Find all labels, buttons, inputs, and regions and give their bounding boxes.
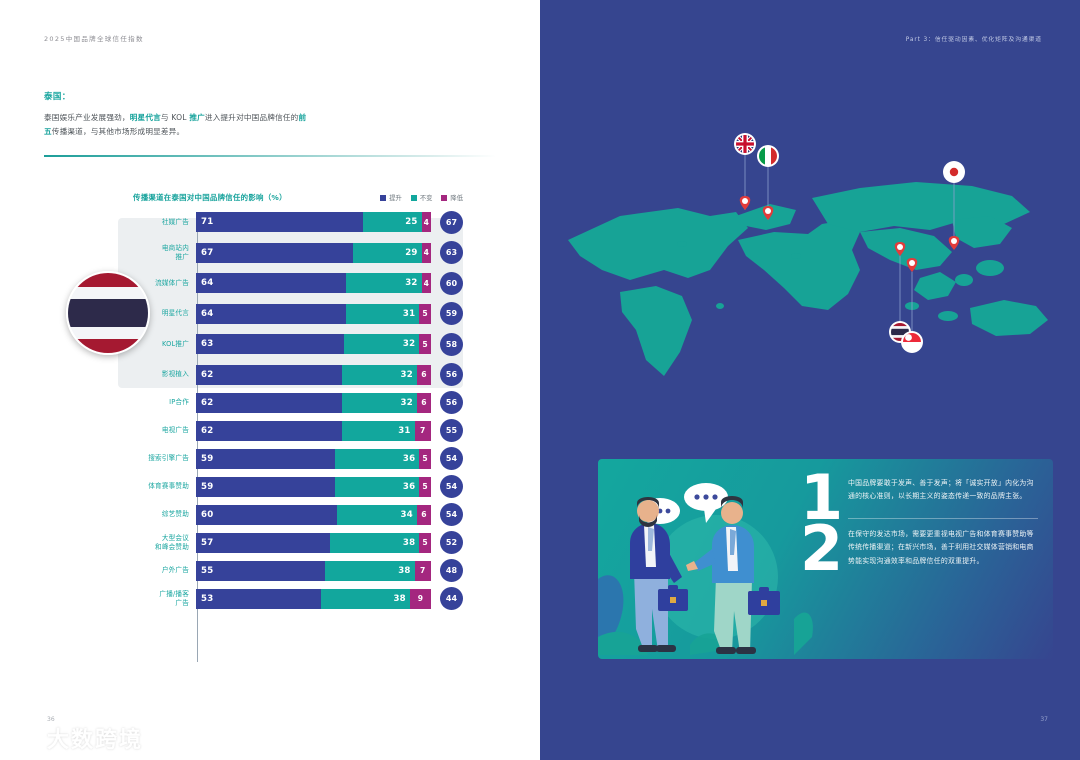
bar-segment-up: 53 [196,589,321,609]
bar-segment-up: 64 [196,273,346,293]
legend-label-up: 提升 [389,193,402,202]
right-page-header: Part 3：信任驱动因素、优化矩阵及沟通渠道 [906,34,1042,43]
insights-list: 1 中国品牌要敢于发声、善于发声；将「诚实开放」内化为沟通的核心准则，以长期主义… [848,477,1038,578]
bar-segment-up: 62 [196,421,342,441]
bar-segment-up: 59 [196,449,335,469]
bar-segment-same: 36 [335,477,420,497]
table-row: 影视植入6232656 [133,365,463,385]
stacked-bar: 53389 [196,589,431,609]
bar-segment-same: 32 [342,365,417,385]
legend-item-same: 不变 [411,193,433,202]
legend-item-down: 降低 [441,193,463,202]
table-row: IP合作6232656 [133,393,463,413]
magazine-spread: 2025中国品牌全球信任指数 泰国： 泰国娱乐产业发展强劲，明星代言与 KOL … [0,0,1080,760]
bar-segment-down: 6 [417,393,431,413]
legend-swatch-down [441,195,447,201]
table-row: 综艺赞助6034654 [133,505,463,525]
intro-line2-a: 品牌信任的 [259,113,298,122]
stacked-bar: 62326 [196,365,431,385]
insights-divider [848,518,1038,519]
table-row: 明星代言6431559 [133,304,463,324]
bar-segment-same: 34 [337,505,417,525]
bar-segment-down: 9 [410,589,431,609]
insight-text-2: 在保守的发达市场，需要更重视电视广告和体育赛事赞助等传统传播渠道；在新兴市场，善… [848,528,1038,568]
insight-number-2: 2 [800,518,841,580]
watermark-text: 大数跨境 [47,722,143,754]
bar-segment-same: 38 [325,561,414,581]
bar-segment-same: 38 [330,533,419,553]
bar-segment-up: 59 [196,477,335,497]
chart-legend: 提升 不变 降低 [380,193,463,202]
bar-segment-same: 25 [363,212,422,232]
table-row: 体育赛事赞助5936554 [133,477,463,497]
stacked-bar: 64324 [196,273,431,293]
net-score-badge: 56 [440,363,463,386]
insights-card: 1 中国品牌要敢于发声、善于发声；将「诚实开放」内化为沟通的核心准则，以长期主义… [598,459,1053,659]
bar-segment-up: 64 [196,304,346,324]
bar-segment-up: 62 [196,365,342,385]
map-flag-italy [757,145,779,167]
bar-segment-up: 67 [196,243,353,263]
stacked-bar: 57385 [196,533,431,553]
stacked-bar: 62317 [196,421,431,441]
bar-segment-down: 5 [419,477,431,497]
row-label: IP合作 [133,398,196,407]
stacked-bar: 62326 [196,393,431,413]
watermark-logo-icon [6,726,42,750]
row-label: 流媒体广告 [133,279,196,288]
net-score-badge: 44 [440,587,463,610]
bar-segment-down: 5 [419,304,431,324]
intro-highlight-kol: 推广 [189,113,205,122]
stacked-bar: 63325 [196,334,431,354]
net-score-badge: 63 [440,241,463,264]
row-label: 广播/播客广告 [133,590,196,608]
stacked-bar: 64315 [196,304,431,324]
map-flag-singapore [901,331,923,353]
net-score-badge: 58 [440,333,463,356]
net-score-badge: 56 [440,391,463,414]
legend-swatch-same [411,195,417,201]
table-row: 电视广告6231755 [133,421,463,441]
world-map [560,120,1080,450]
watermark: 大数跨境 [6,722,143,754]
legend-item-up: 提升 [380,193,402,202]
right-page: Part 3：信任驱动因素、优化矩阵及沟通渠道 [540,0,1080,760]
intro-line2-c: 传播渠道，与其他市场形成明显差异。 [52,127,185,136]
map-flag-uk [734,133,756,155]
stacked-bar: 59365 [196,477,431,497]
stacked-bar: 71254 [196,212,431,232]
bar-segment-down: 4 [422,243,431,263]
left-page: 2025中国品牌全球信任指数 泰国： 泰国娱乐产业发展强劲，明星代言与 KOL … [0,0,540,760]
intro-line1-a: 泰国娱乐产业发展强劲， [44,113,130,122]
bar-segment-up: 55 [196,561,325,581]
intro-block: 泰国： 泰国娱乐产业发展强劲，明星代言与 KOL 推广进入提升对中国品牌信任的前… [44,90,314,139]
bar-segment-down: 6 [417,505,431,525]
bar-segment-same: 32 [342,393,417,413]
intro-title: 泰国： [44,90,314,102]
insight-text-1: 中国品牌要敢于发声、善于发声；将「诚实开放」内化为沟通的核心准则，以长期主义的姿… [848,477,1038,504]
bar-segment-down: 7 [415,561,431,581]
table-row: 搜索引擎广告5936554 [133,449,463,469]
left-page-header: 2025中国品牌全球信任指数 [44,33,144,43]
row-label: 大型会议和峰会赞助 [133,534,196,552]
intro-line1-e: 进入提升对中国 [205,113,260,122]
row-label: 电商站内推广 [133,244,196,262]
net-score-badge: 48 [440,559,463,582]
table-row: 流媒体广告6432460 [133,273,463,293]
bar-segment-up: 60 [196,505,337,525]
legend-swatch-up [380,195,386,201]
intro-line1-c: 与 KOL [161,113,189,122]
net-score-badge: 67 [440,211,463,234]
row-label: KOL推广 [133,340,196,349]
legend-label-same: 不变 [420,193,433,202]
net-score-badge: 55 [440,419,463,442]
stacked-bar: 60346 [196,505,431,525]
bar-segment-up: 62 [196,393,342,413]
bar-segment-down: 4 [422,273,431,293]
net-score-badge: 59 [440,302,463,325]
stacked-bar: 55387 [196,561,431,581]
row-label: 影视植入 [133,370,196,379]
net-score-badge: 52 [440,531,463,554]
row-label: 体育赛事赞助 [133,482,196,491]
bar-segment-up: 71 [196,212,363,232]
row-label: 社媒广告 [133,218,196,227]
bar-segment-same: 32 [344,334,419,354]
stacked-bar: 67294 [196,243,431,263]
bar-segment-down: 4 [422,212,431,232]
channel-impact-chart: 传播渠道在泰国对中国品牌信任的影响（%） 提升 不变 降低 [133,192,463,617]
map-flag-japan [943,161,965,183]
row-label: 搜索引擎广告 [133,454,196,463]
chart-header: 传播渠道在泰国对中国品牌信任的影响（%） 提升 不变 降低 [133,192,463,212]
bar-segment-down: 6 [417,365,431,385]
net-score-badge: 54 [440,447,463,470]
table-row: 户外广告5538748 [133,561,463,581]
net-score-badge: 60 [440,272,463,295]
section-divider [44,155,496,157]
bar-segment-same: 38 [321,589,410,609]
intro-body: 泰国娱乐产业发展强劲，明星代言与 KOL 推广进入提升对中国品牌信任的前五传播渠… [44,111,314,139]
insight-item-1: 1 中国品牌要敢于发声、善于发声；将「诚实开放」内化为沟通的核心准则，以长期主义… [848,477,1038,514]
row-label: 电视广告 [133,426,196,435]
row-label: 户外广告 [133,566,196,575]
chart-rows: 社媒广告7125467电商站内推广6729463流媒体广告6432460明星代言… [133,212,463,609]
bar-segment-same: 29 [353,243,421,263]
bar-segment-down: 5 [419,449,431,469]
net-score-badge: 54 [440,503,463,526]
businessmen-illustration [598,459,816,659]
bar-segment-same: 32 [346,273,421,293]
table-row: 大型会议和峰会赞助5738552 [133,533,463,553]
table-row: KOL推广6332558 [133,334,463,354]
right-page-number: 37 [1040,716,1048,723]
bar-segment-down: 7 [415,421,431,441]
stacked-bar: 59365 [196,449,431,469]
net-score-badge: 54 [440,475,463,498]
bar-segment-down: 5 [419,334,431,354]
legend-label-down: 降低 [450,193,463,202]
bar-segment-down: 5 [419,533,431,553]
bar-segment-up: 57 [196,533,330,553]
insight-item-2: 2 在保守的发达市场，需要更重视电视广告和体育赛事赞助等传统传播渠道；在新兴市场… [848,528,1038,578]
table-row: 广播/播客广告5338944 [133,589,463,609]
bar-segment-same: 36 [335,449,420,469]
intro-highlight-celebrity: 明星代言 [130,113,161,122]
thailand-flag-badge [66,271,150,355]
row-label: 综艺赞助 [133,510,196,519]
bar-segment-up: 63 [196,334,344,354]
table-row: 电商站内推广6729463 [133,243,463,263]
bar-segment-same: 31 [346,304,419,324]
bar-segment-same: 31 [342,421,415,441]
table-row: 社媒广告7125467 [133,212,463,232]
chart-title: 传播渠道在泰国对中国品牌信任的影响（%） [133,192,287,203]
